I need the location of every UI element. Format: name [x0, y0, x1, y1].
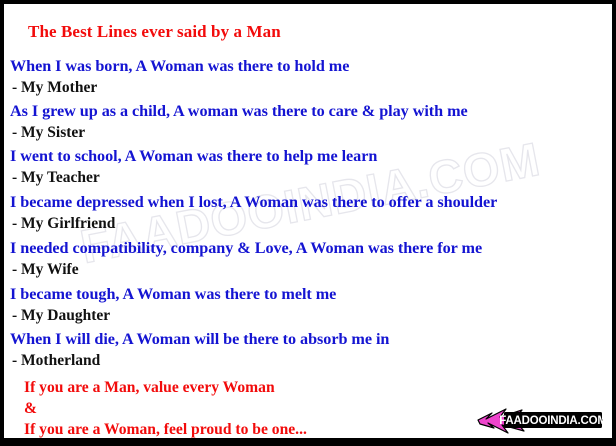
verse-block-7: When I will die, A Woman will be there t…: [10, 329, 389, 371]
verse-question: When I was born, A Woman was there to ho…: [10, 56, 349, 77]
verse-answer: - My Sister: [10, 122, 468, 143]
verse-answer: - My Teacher: [10, 167, 377, 188]
verse-question: As I grew up as a child, A woman was the…: [10, 101, 468, 122]
verse-question: I became tough, A Woman was there to mel…: [10, 284, 336, 305]
verse-block-2: As I grew up as a child, A woman was the…: [10, 101, 468, 143]
closing-line-3: If you are a Woman, feel proud to be one…: [24, 419, 307, 438]
verse-answer: - My Wife: [10, 259, 482, 280]
image-root: FAADOOINDIA.COM The Best Lines ever said…: [0, 0, 616, 446]
verse-answer: - My Daughter: [10, 305, 336, 326]
verse-question: When I will die, A Woman will be there t…: [10, 329, 389, 350]
page-title: The Best Lines ever said by a Man: [28, 22, 281, 42]
closing-message: If you are a Man, value every Woman & If…: [24, 377, 307, 438]
verse-question: I became depressed when I lost, A Woman …: [10, 192, 497, 213]
verse-answer: - Motherland: [10, 350, 389, 371]
verse-block-1: When I was born, A Woman was there to ho…: [10, 56, 349, 98]
logo-plate: FAADOOINDIA.COM: [499, 412, 607, 428]
closing-line-1: If you are a Man, value every Woman: [24, 377, 307, 398]
verse-question: I went to school, A Woman was there to h…: [10, 146, 377, 167]
closing-line-2: &: [24, 398, 307, 419]
verse-block-6: I became tough, A Woman was there to mel…: [10, 284, 336, 326]
verse-block-5: I needed compatibility, company & Love, …: [10, 238, 482, 280]
verse-block-3: I went to school, A Woman was there to h…: [10, 146, 377, 188]
svg-text:FAADOOINDIA.COM: FAADOOINDIA.COM: [499, 415, 607, 427]
verse-question: I needed compatibility, company & Love, …: [10, 238, 482, 259]
verse-answer: - My Girlfriend: [10, 213, 497, 234]
content-canvas: FAADOOINDIA.COM The Best Lines ever said…: [4, 4, 612, 438]
verse-answer: - My Mother: [10, 77, 349, 98]
verse-block-4: I became depressed when I lost, A Woman …: [10, 192, 497, 234]
faadooindia-logo[interactable]: FAADOOINDIA.COM: [476, 404, 608, 438]
